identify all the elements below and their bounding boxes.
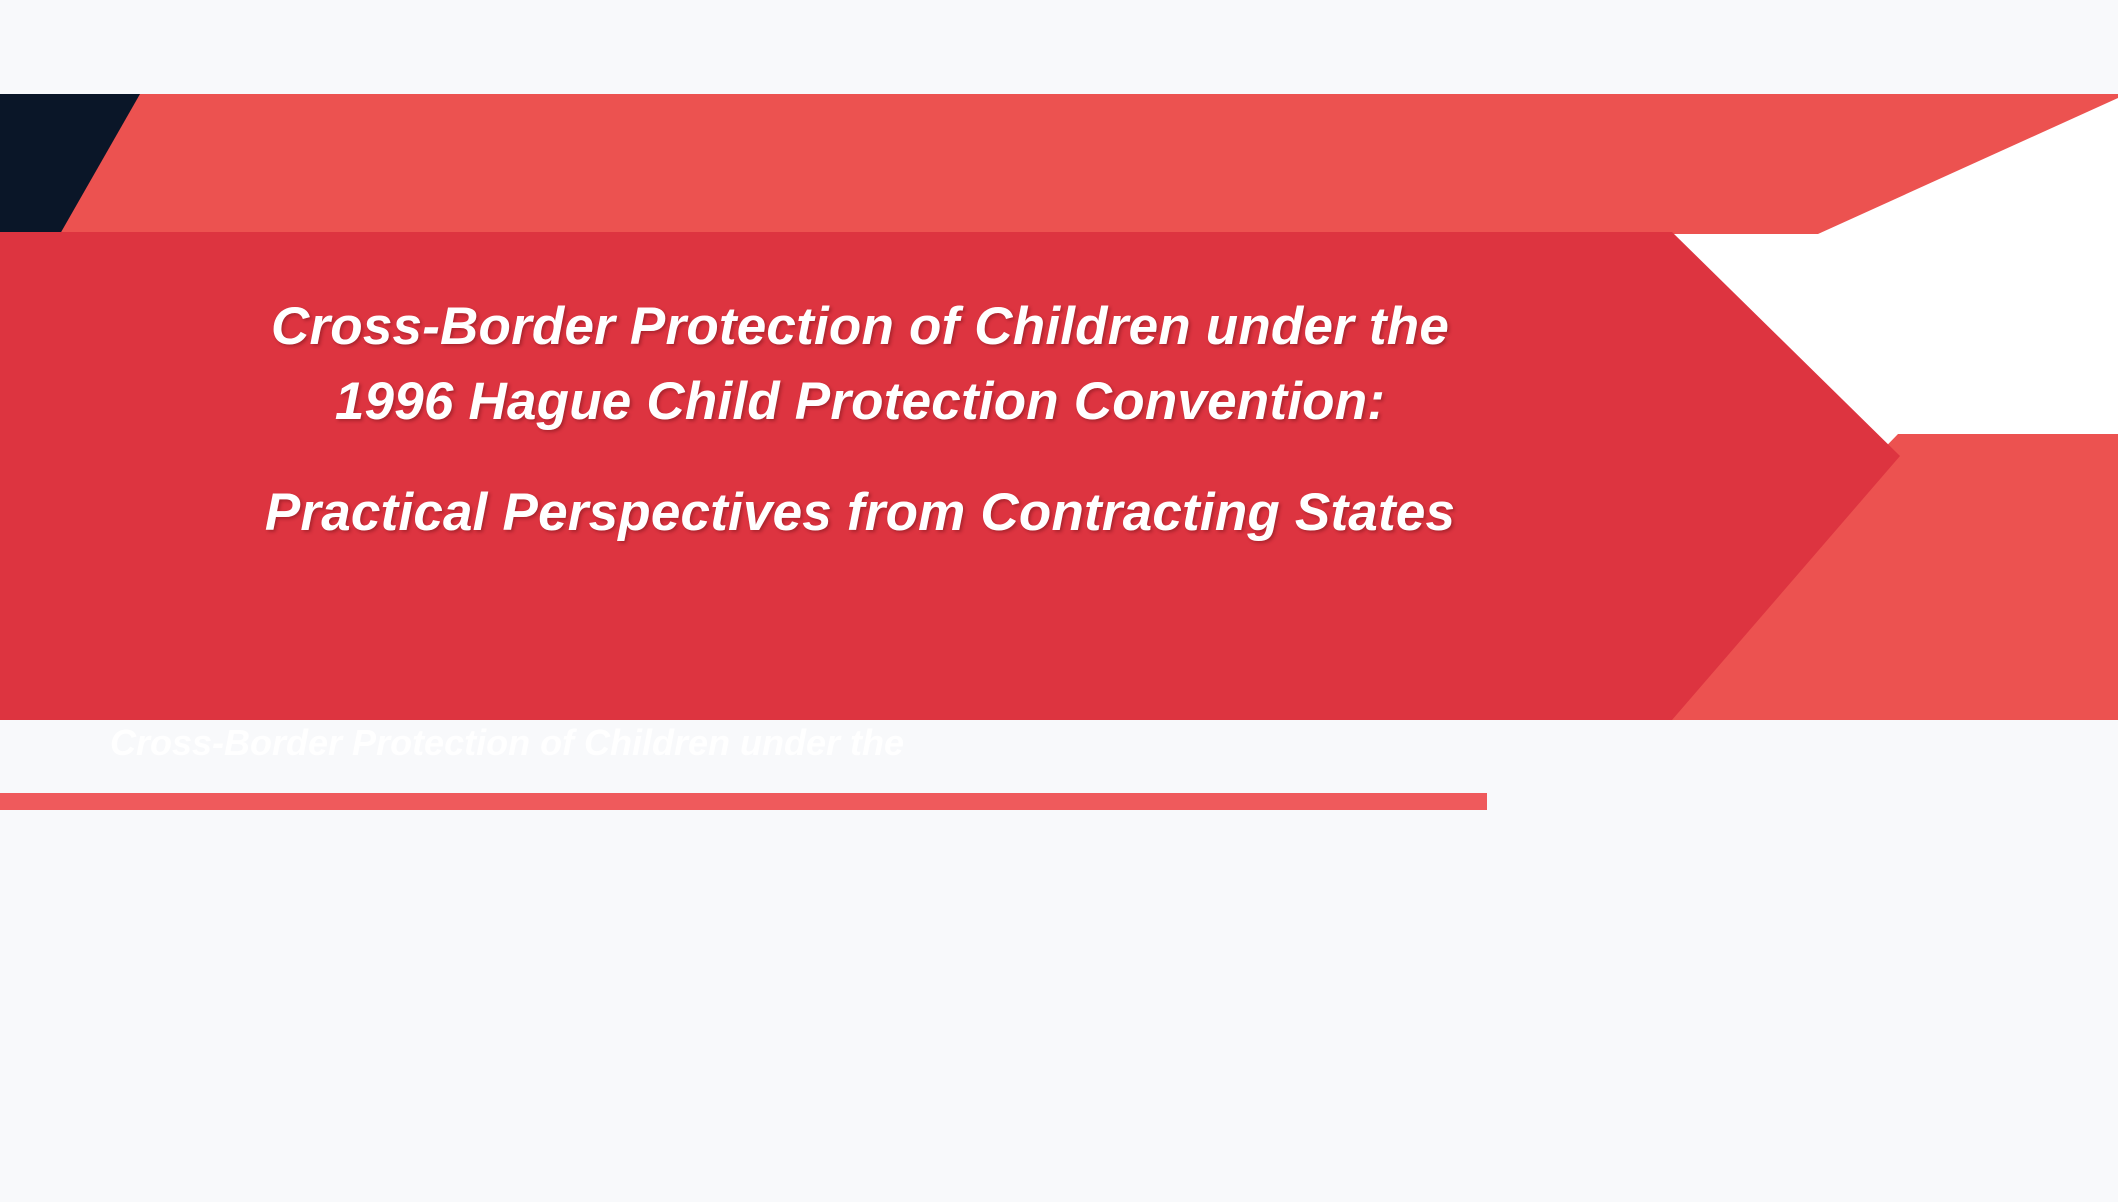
coral-accent-rule (0, 793, 1487, 810)
title-slide: Cross-Border Protection of Children unde… (0, 0, 2118, 1202)
page-title-line-2: 1996 Hague Child Protection Convention: (0, 375, 1720, 428)
page-title: Cross-Border Protection of Children unde… (0, 300, 1720, 539)
page-title-line-1: Cross-Border Protection of Children unde… (0, 300, 1720, 353)
page-title-line-3: Practical Perspectives from Contracting … (0, 486, 1720, 539)
coral-chevron-band-top (0, 94, 2118, 234)
ghost-overflow-text: Cross-Border Protection of Children unde… (110, 722, 1430, 764)
banner-decoration (0, 0, 2118, 1202)
